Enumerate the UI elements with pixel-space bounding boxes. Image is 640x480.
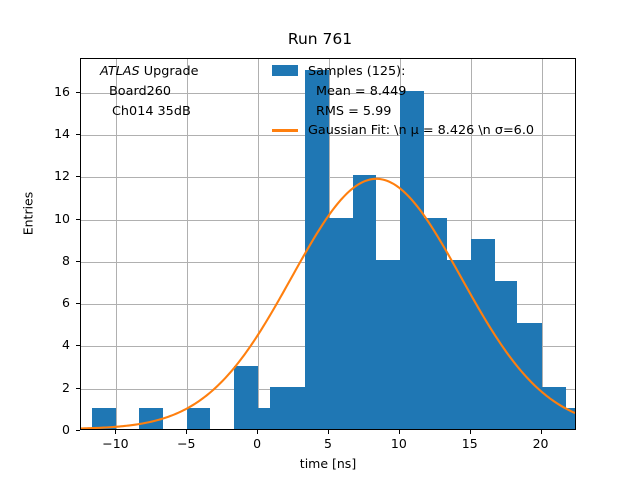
x-tick-label: 0 [227, 436, 287, 451]
x-axis-label: time [ns] [80, 456, 576, 471]
legend-samples-title: Samples (125): [308, 64, 405, 79]
x-tick-label: −10 [85, 436, 145, 451]
x-tick-label: 5 [298, 436, 358, 451]
legend-label-fit: Gaussian Fit: \n μ = 8.426 \n σ=6.0 [272, 121, 534, 141]
y-tick-label: 14 [32, 126, 70, 141]
atlas-annotation: ATLAS Upgrade Board260 Ch014 35dB [100, 62, 198, 121]
x-tick-mark [115, 430, 116, 434]
legend-entry-fit: Gaussian Fit: \n μ = 8.426 \n σ=6.0 [272, 121, 534, 141]
y-tick-mark [76, 303, 80, 304]
y-tick-label: 2 [32, 380, 70, 395]
x-tick-mark [470, 430, 471, 434]
y-tick-label: 8 [32, 253, 70, 268]
y-tick-mark [76, 345, 80, 346]
y-tick-label: 16 [32, 84, 70, 99]
x-tick-mark [399, 430, 400, 434]
x-tick-mark [257, 430, 258, 434]
upgrade-text: Upgrade [140, 64, 199, 79]
annotation-line-atlas: ATLAS Upgrade [100, 62, 198, 82]
y-tick-mark [76, 134, 80, 135]
x-tick-label: 10 [369, 436, 429, 451]
y-tick-mark [76, 430, 80, 431]
legend: Samples (125): Mean = 8.449 RMS = 5.99 G… [272, 62, 534, 141]
y-tick-mark [76, 176, 80, 177]
y-axis-label: Entries [21, 154, 36, 274]
y-tick-label: 4 [32, 337, 70, 352]
x-tick-label: 20 [511, 436, 571, 451]
annotation-line-channel: Ch014 35dB [100, 102, 198, 122]
x-tick-mark [328, 430, 329, 434]
legend-swatch-samples-icon [272, 65, 298, 76]
y-tick-label: 0 [32, 422, 70, 437]
y-tick-label: 12 [32, 168, 70, 183]
x-tick-label: 15 [440, 436, 500, 451]
y-tick-label: 6 [32, 295, 70, 310]
legend-samples-rms: RMS = 5.99 [308, 102, 534, 122]
x-tick-label: −5 [156, 436, 216, 451]
y-tick-mark [76, 261, 80, 262]
page-title: Run 761 [0, 30, 640, 48]
y-tick-label: 10 [32, 211, 70, 226]
legend-samples-mean: Mean = 8.449 [308, 82, 534, 102]
x-tick-mark [186, 430, 187, 434]
y-tick-mark [76, 219, 80, 220]
legend-entry-samples: Samples (125): Mean = 8.449 RMS = 5.99 [272, 62, 534, 121]
annotation-line-board: Board260 [100, 82, 198, 102]
y-tick-mark [76, 388, 80, 389]
atlas-text: ATLAS [100, 64, 140, 79]
y-tick-mark [76, 92, 80, 93]
x-tick-mark [541, 430, 542, 434]
legend-swatch-fit-icon [272, 129, 298, 131]
legend-label-samples: Samples (125): Mean = 8.449 RMS = 5.99 [272, 62, 534, 121]
matplotlib-figure: Run 761 −10−5051015200246810121416 time … [0, 0, 640, 480]
